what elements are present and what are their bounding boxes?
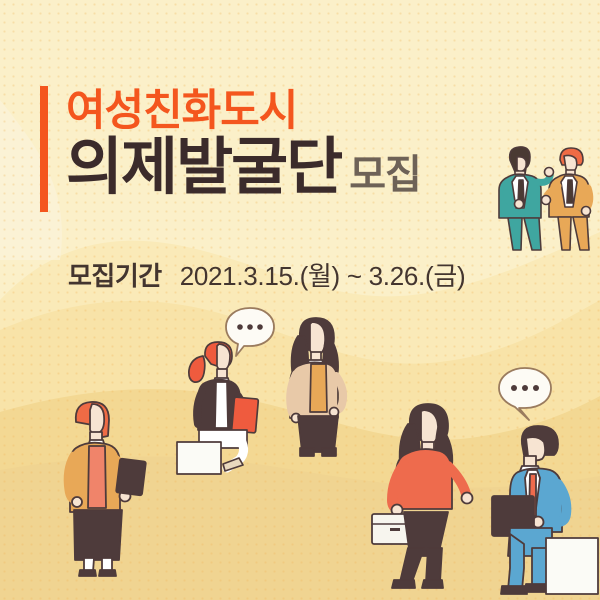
figure-woman-standing-coat — [278, 312, 354, 462]
figure-woman-with-tablet — [48, 392, 154, 578]
title-accent-bar — [40, 86, 48, 212]
figure-woman-with-briefcase — [370, 398, 486, 594]
speech-bubble-left — [222, 306, 278, 358]
figure-businessman-orange — [544, 142, 600, 252]
title-line-2-sub: 모집 — [349, 152, 421, 202]
title-line-2-main: 의제발굴단 — [66, 134, 341, 202]
title-line-1: 여성친화도시 — [66, 86, 421, 136]
recruitment-period-value: 2021.3.15.(월) ~ 3.26.(금) — [180, 256, 466, 293]
recruitment-period-label: 모집기간 — [68, 256, 162, 293]
poster-title-block: 여성친화도시 의제발굴단 모집 — [40, 86, 421, 212]
speech-bubble-right — [495, 366, 555, 422]
recruitment-period-row: 모집기간 2021.3.15.(월) ~ 3.26.(금) — [68, 256, 465, 293]
poster-canvas: 여성친화도시 의제발굴단 모집 모집기간 2021.3.15.(월) ~ 3.2… — [0, 0, 600, 600]
figure-man-seated-laptop — [490, 418, 600, 596]
